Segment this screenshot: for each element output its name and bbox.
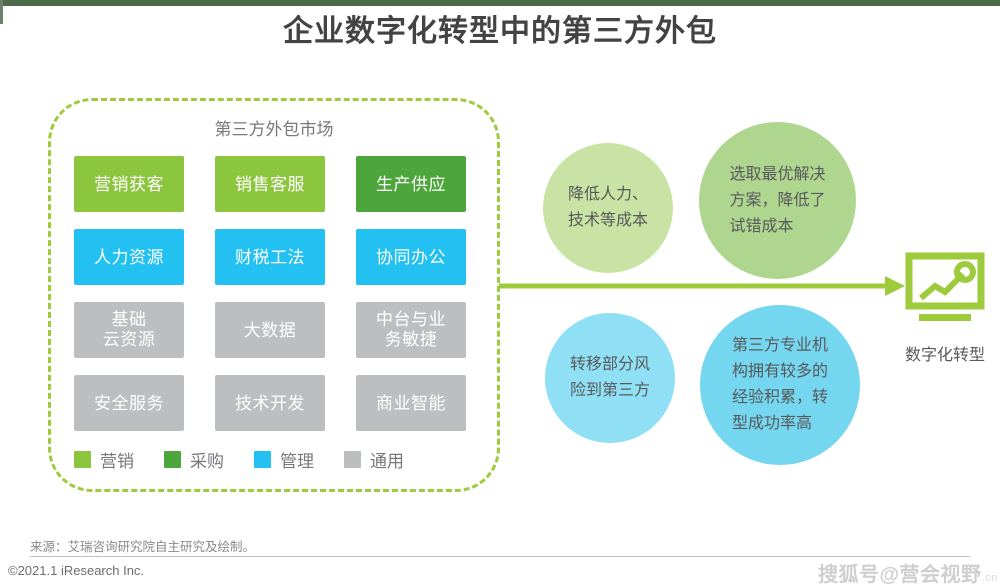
watermark-tld: .cn	[982, 572, 998, 584]
infographic-page: 企业数字化转型中的第三方外包 第三方外包市场 营销获客销售客服生产供应人力资源财…	[0, 0, 1000, 588]
benefit-circle[interactable]: 选取最优解决方案，降低了试错成本	[699, 122, 856, 279]
service-cell[interactable]: 基础云资源	[74, 302, 184, 358]
service-cell[interactable]: 生产供应	[356, 156, 466, 212]
service-cell[interactable]: 销售客服	[215, 156, 325, 212]
benefit-circle-text: 第三方专业机构拥有较多的经验积累，转型成功率高	[732, 333, 828, 437]
legend-swatch-icon	[344, 451, 361, 468]
outcome-label: 数字化转型	[893, 341, 997, 365]
service-cell[interactable]: 协同办公	[356, 229, 466, 285]
legend-item: 通用	[344, 447, 404, 472]
page-title: 企业数字化转型中的第三方外包	[0, 12, 1000, 52]
watermark: 搜狐号@营会视野.cn	[818, 558, 998, 587]
service-cell[interactable]: 营销获客	[74, 156, 184, 212]
legend-item: 管理	[254, 447, 314, 472]
service-grid: 营销获客销售客服生产供应人力资源财税工法协同办公基础云资源大数据中台与业务敏捷安…	[74, 156, 476, 431]
legend-label: 采购	[190, 447, 224, 472]
service-cell[interactable]: 安全服务	[74, 375, 184, 431]
legend-item: 采购	[164, 447, 224, 472]
benefit-circle[interactable]: 第三方专业机构拥有较多的经验积累，转型成功率高	[700, 305, 860, 465]
monitor-growth-icon	[903, 252, 987, 324]
footer-divider	[30, 556, 970, 557]
benefit-circle[interactable]: 转移部分风险到第三方	[545, 313, 675, 443]
legend-label: 通用	[370, 447, 404, 472]
source-note: 来源：艾瑞咨询研究院自主研究及绘制。	[30, 536, 255, 555]
service-cell[interactable]: 人力资源	[74, 229, 184, 285]
market-heading: 第三方外包市场	[48, 118, 500, 142]
legend-label: 管理	[280, 447, 314, 472]
legend-swatch-icon	[254, 451, 271, 468]
legend-label: 营销	[100, 447, 134, 472]
service-cell[interactable]: 商业智能	[356, 375, 466, 431]
category-legend: 营销采购管理通用	[74, 447, 478, 472]
flow-arrow	[497, 268, 907, 304]
benefit-circle-text: 降低人力、技术等成本	[568, 182, 648, 234]
legend-swatch-icon	[164, 451, 181, 468]
service-cell[interactable]: 大数据	[215, 302, 325, 358]
service-cell[interactable]: 财税工法	[215, 229, 325, 285]
watermark-text: 搜狐号@营会视野	[818, 564, 982, 586]
legend-item: 营销	[74, 447, 134, 472]
legend-swatch-icon	[74, 451, 91, 468]
flow-arrow-svg	[497, 268, 907, 304]
service-cell[interactable]: 中台与业务敏捷	[356, 302, 466, 358]
service-cell[interactable]: 技术开发	[215, 375, 325, 431]
top-edge-band	[0, 0, 1000, 6]
benefit-circle-text: 选取最优解决方案，降低了试错成本	[729, 162, 825, 240]
benefit-circle[interactable]: 降低人力、技术等成本	[543, 143, 673, 273]
benefit-circle-text: 转移部分风险到第三方	[570, 352, 650, 404]
outcome-block: 数字化转型	[893, 252, 997, 365]
copyright-note: ©2021.1 iResearch Inc.	[8, 563, 144, 578]
